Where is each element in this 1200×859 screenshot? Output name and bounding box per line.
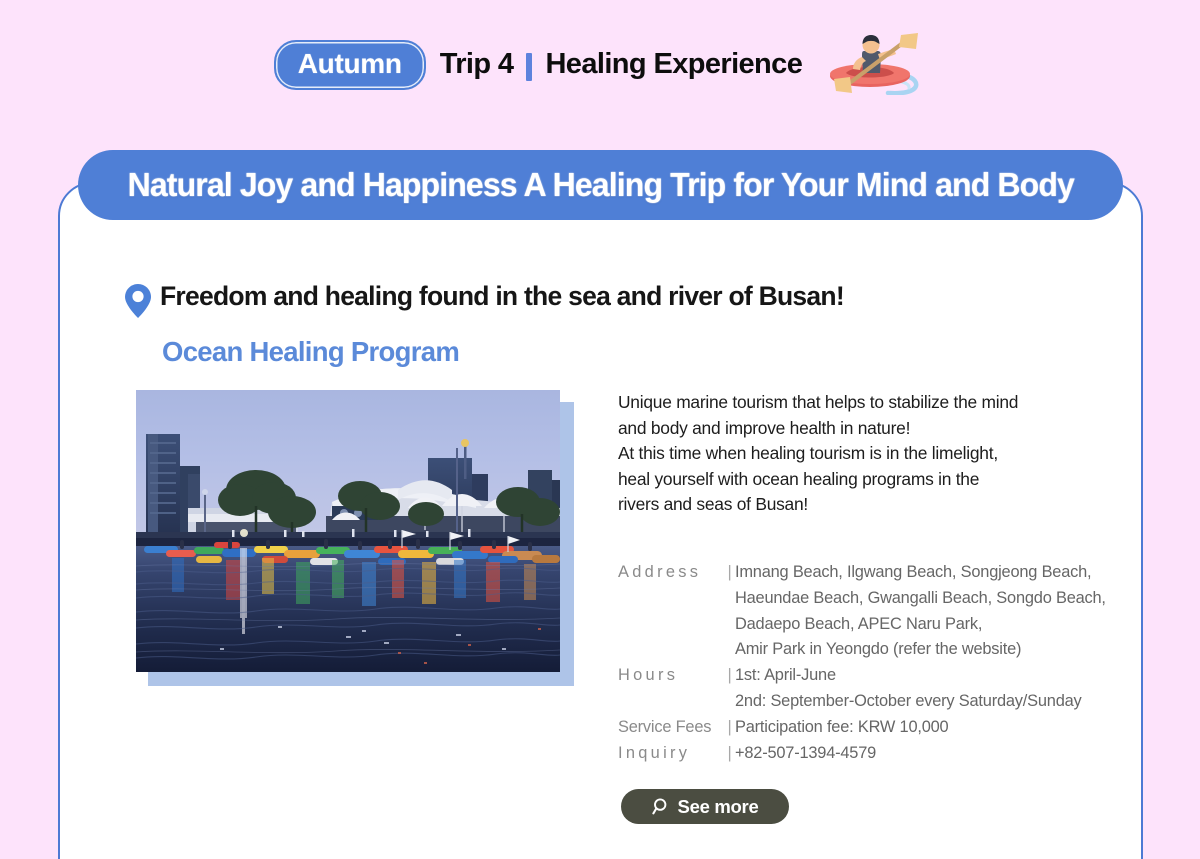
page-header: Autumn Trip 4 Healing Experience [0,0,1200,128]
magnifier-icon [652,797,671,816]
description-line: At this time when healing tourism is in … [618,441,1088,467]
trip-label: Trip 4 [440,48,514,81]
header-separator [526,53,532,81]
kayaker-icon [822,33,926,100]
detail-value-line: +82-507-1394-4579 [735,741,1098,767]
program-details: Address | Imnang Beach, Ilgwang Beach, S… [618,560,1098,766]
detail-row-inquiry: Inquiry | +82-507-1394-4579 [618,741,1098,767]
program-photo [136,390,560,672]
description-line: heal yourself with ocean healing program… [618,467,1088,493]
banner-title-pill: Natural Joy and Happiness A Healing Trip… [78,150,1123,220]
detail-label: Service Fees [618,715,724,741]
detail-row-hours: Hours | 1st: April-June 2nd: September-O… [618,663,1098,715]
experience-label: Healing Experience [545,48,802,81]
detail-value-line: Haeundae Beach, Gwangalli Beach, Songdo … [735,586,1106,612]
detail-value-line: 2nd: September-October every Saturday/Su… [735,689,1098,715]
program-heading: Freedom and healing found in the sea and… [124,281,844,368]
description-line: rivers and seas of Busan! [618,492,1088,518]
description-line: Unique marine tourism that helps to stab… [618,390,1088,416]
program-name: Ocean Healing Program [162,335,844,368]
detail-label: Address [618,560,724,586]
program-photo-container [136,390,574,686]
program-tagline: Freedom and healing found in the sea and… [160,281,844,313]
program-description: Unique marine tourism that helps to stab… [618,390,1088,518]
detail-value: +82-507-1394-4579 [735,741,1098,767]
detail-row-service-fees: Service Fees | Participation fee: KRW 10… [618,715,1098,741]
detail-separator: | [724,715,735,741]
detail-value-line: Imnang Beach, Ilgwang Beach, Songjeong B… [735,560,1106,586]
detail-value: 1st: April-June 2nd: September-October e… [735,663,1098,715]
detail-label: Hours [618,663,724,689]
detail-value-line: Participation fee: KRW 10,000 [735,715,1098,741]
detail-value-line: 1st: April-June [735,663,1098,689]
detail-row-address: Address | Imnang Beach, Ilgwang Beach, S… [618,560,1098,663]
detail-value-line: Dadaepo Beach, APEC Naru Park, [735,612,1106,638]
detail-label: Inquiry [618,741,724,767]
detail-separator: | [724,663,735,689]
see-more-button[interactable]: See more [621,789,789,824]
description-line: and body and improve health in nature! [618,416,1088,442]
detail-value: Participation fee: KRW 10,000 [735,715,1098,741]
detail-separator: | [724,741,735,767]
detail-value-line: Amir Park in Yeongdo (refer the website) [735,637,1106,663]
detail-separator: | [724,560,735,586]
detail-value: Imnang Beach, Ilgwang Beach, Songjeong B… [735,560,1106,663]
season-badge: Autumn [274,40,426,90]
see-more-label: See more [678,796,759,818]
banner-title: Natural Joy and Happiness A Healing Trip… [127,166,1073,204]
map-pin-icon [124,283,152,324]
